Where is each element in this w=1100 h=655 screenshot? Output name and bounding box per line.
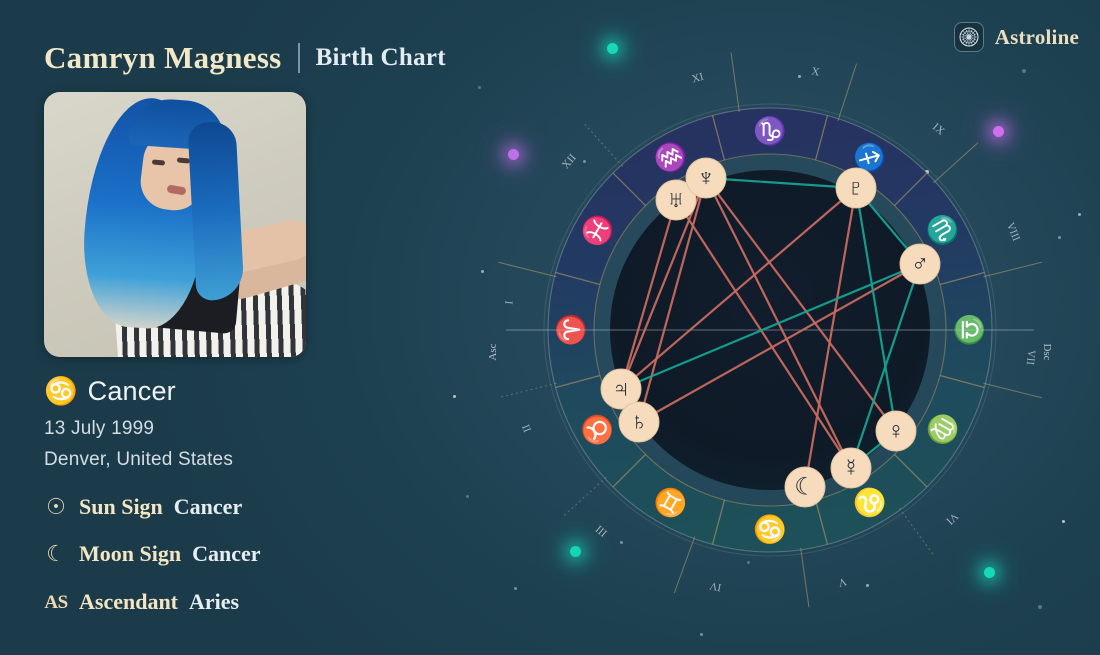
house-cusp-line <box>562 477 607 517</box>
house-number-IV: IV <box>709 579 723 593</box>
house-number-V: V <box>837 575 848 589</box>
planet-marker-moon[interactable]: ☾ <box>785 467 825 507</box>
zodiac-glyph-capricorn: ♑ <box>753 115 787 146</box>
planet-marker-venus[interactable]: ♀ <box>876 411 916 451</box>
house-cusp-line <box>498 383 556 398</box>
house-cusp-line <box>838 64 857 121</box>
fact-label-moon: Moon Sign <box>79 541 181 567</box>
cancer-glyph-icon: ♋ <box>44 378 78 405</box>
planet-glyph-venus: ♀ <box>887 418 905 445</box>
birth-place: Denver, United States <box>44 449 233 471</box>
house-number-VII: VII <box>1024 349 1038 366</box>
planet-glyph-uranus: ♅ <box>667 187 685 214</box>
fact-label-sun: Sun Sign <box>79 494 163 520</box>
sun-sign-name: Cancer <box>88 376 176 407</box>
house-number-I: I <box>503 300 515 305</box>
house-number-X: X <box>811 65 821 78</box>
fact-value-moon: Cancer <box>192 541 260 567</box>
house-number-XII: XII <box>560 152 579 172</box>
fact-row-sun-sign: ☉ Sun Sign Cancer <box>44 494 242 520</box>
house-cusp-line <box>899 508 934 557</box>
planet-glyph-mercury: ☿ <box>842 455 860 482</box>
person-name: Camryn Magness <box>44 40 282 76</box>
house-cusp-line <box>583 122 623 167</box>
avatar <box>44 92 306 357</box>
planet-glyph-pluto: ♇ <box>847 175 865 202</box>
chart-type-label: Birth Chart <box>316 44 446 72</box>
planet-glyph-saturn: ♄ <box>630 409 648 436</box>
birth-date: 13 July 1999 <box>44 418 154 440</box>
planet-marker-pluto[interactable]: ♇ <box>836 168 876 208</box>
house-number-II: II <box>520 422 534 434</box>
house-cusp-line <box>933 143 978 183</box>
moon-icon: ☾ <box>44 542 68 566</box>
fact-row-ascendant: AS Ascendant Aries <box>44 589 239 615</box>
planet-marker-mars[interactable]: ♂ <box>900 244 940 284</box>
house-cusp-line <box>498 262 556 277</box>
profile-panel: Camryn Magness Birth Chart ♋ Cancer 13 J… <box>0 0 470 655</box>
axis-label-asc: Asc <box>487 343 499 360</box>
page-title: Camryn Magness Birth Chart <box>44 40 446 76</box>
planet-glyph-moon: ☾ <box>794 474 816 501</box>
planet-glyph-jupiter: ♃ <box>612 376 630 403</box>
fact-row-moon-sign: ☾ Moon Sign Cancer <box>44 541 261 567</box>
house-number-VIII: VIII <box>1004 221 1022 243</box>
sun-icon: ☉ <box>44 495 68 519</box>
sun-sign-headline: ♋ Cancer <box>44 376 176 407</box>
axis-label-dsc: Dsc <box>1041 343 1053 360</box>
planet-marker-saturn[interactable]: ♄ <box>619 402 659 442</box>
fact-label-ascendant: Ascendant <box>79 589 178 615</box>
planet-marker-neptune[interactable]: ♆ <box>686 158 726 198</box>
planet-marker-mercury[interactable]: ☿ <box>831 448 871 488</box>
fact-value-ascendant: Aries <box>189 589 239 615</box>
title-divider <box>298 43 300 73</box>
photo-hair-side <box>187 121 244 301</box>
house-number-XI: XI <box>691 71 706 86</box>
house-cusp-line <box>983 262 1041 277</box>
house-number-VI: VI <box>943 510 960 527</box>
birth-chart-wheel[interactable]: ♈♉♊♋♌♍♎♏♐♑♒♓IIIIIIIVVVIVIIVIIIIXXXIXIIAs… <box>440 0 1100 655</box>
planet-glyph-mars: ♂ <box>911 251 929 278</box>
house-number-III: III <box>593 522 609 538</box>
zodiac-glyph-cancer: ♋ <box>753 514 787 545</box>
house-cusp-line <box>801 548 809 607</box>
ascendant-icon: AS <box>44 590 68 614</box>
fact-value-sun: Cancer <box>174 494 242 520</box>
birth-chart-screen: Camryn Magness Birth Chart ♋ Cancer 13 J… <box>0 0 1100 655</box>
house-cusp-line <box>983 383 1041 398</box>
house-cusp-line <box>674 537 695 593</box>
planet-glyph-neptune: ♆ <box>697 165 715 192</box>
house-cusp-line <box>731 53 739 112</box>
house-number-IX: IX <box>930 121 947 138</box>
